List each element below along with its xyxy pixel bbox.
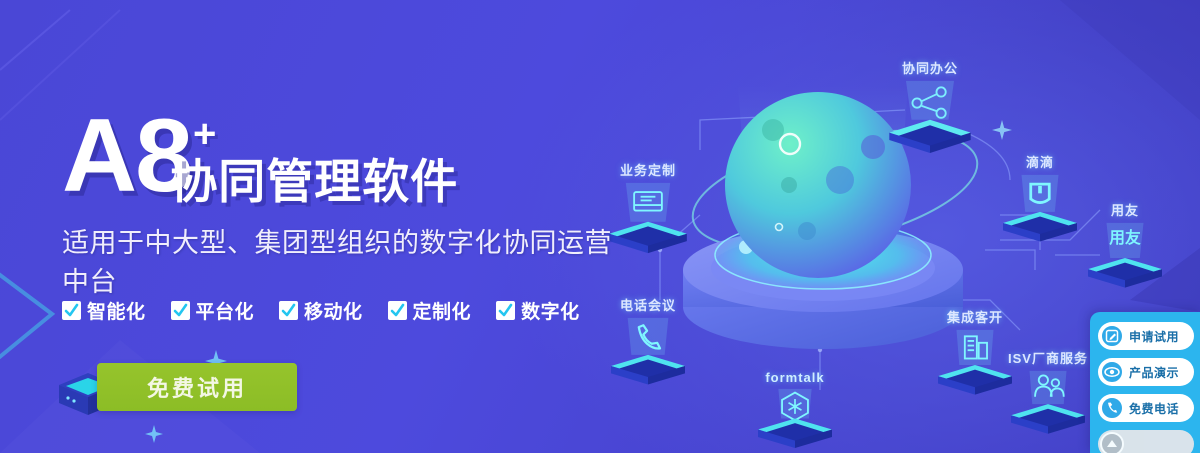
illustration-node-collab-office[interactable]: 协同办公 bbox=[870, 58, 990, 158]
checkbox-checked-icon[interactable] bbox=[171, 301, 190, 320]
hero-copy: A8 + 协同管理软件 适用于中大型、集团型组织的数字化协同运营中台 bbox=[62, 110, 622, 299]
feature-label: 数字化 bbox=[521, 297, 580, 324]
side-item-free-call[interactable]: 免费电话 bbox=[1098, 394, 1194, 422]
side-item-product-demo[interactable]: 产品演示 bbox=[1098, 358, 1194, 386]
brand-plus-superscript: + bbox=[193, 114, 216, 154]
side-item-apply-trial[interactable]: 申请试用 bbox=[1098, 322, 1194, 350]
sparkle-icon bbox=[145, 425, 163, 443]
free-trial-button[interactable]: 免费试用 bbox=[97, 363, 297, 411]
floating-contact-panel: 申请试用 产品演示 免费电话 bbox=[1090, 312, 1200, 453]
hero-subtitle: 适用于中大型、集团型组织的数字化协同运营中台 bbox=[62, 221, 622, 299]
telephone-icon bbox=[588, 316, 708, 390]
feature-label: 智能化 bbox=[87, 297, 146, 324]
feature-label: 移动化 bbox=[304, 297, 363, 324]
telephone-icon bbox=[1100, 396, 1124, 420]
feature-item[interactable]: 智能化 bbox=[62, 297, 146, 324]
hero-banner: 协同办公 业务定制 bbox=[0, 0, 1200, 453]
product-name: 协同管理软件 bbox=[170, 158, 458, 205]
side-item-label: 申请试用 bbox=[1129, 328, 1179, 345]
feature-item[interactable]: 定制化 bbox=[388, 297, 472, 324]
checkbox-checked-icon[interactable] bbox=[496, 301, 515, 320]
side-item-scroll-top[interactable] bbox=[1098, 430, 1194, 453]
checkbox-checked-icon[interactable] bbox=[62, 301, 81, 320]
chevron-decoration-icon bbox=[0, 268, 68, 364]
node-label: 协同办公 bbox=[870, 58, 990, 77]
feature-item[interactable]: 数字化 bbox=[496, 297, 580, 324]
illustration-node-phone-conference[interactable]: 电话会议 bbox=[588, 295, 708, 395]
illustration-node-formtalk[interactable]: formtalk bbox=[735, 370, 855, 453]
share-network-icon bbox=[870, 79, 990, 153]
node-label: formtalk bbox=[735, 370, 855, 385]
checkbox-checked-icon[interactable] bbox=[279, 301, 298, 320]
hexagon-snowflake-icon bbox=[735, 387, 855, 453]
yonyou-logo-icon: 用友 bbox=[1065, 221, 1185, 295]
brand-lockup: A8 + 协同管理软件 bbox=[62, 110, 622, 205]
feature-label: 平台化 bbox=[196, 297, 255, 324]
checkbox-checked-icon[interactable] bbox=[388, 301, 407, 320]
node-label: 用友 bbox=[1065, 200, 1185, 219]
feature-item[interactable]: 移动化 bbox=[279, 297, 363, 324]
svg-text:用友: 用友 bbox=[1109, 228, 1141, 247]
feature-list: 智能化 平台化 移动化 定制化 数字化 bbox=[62, 297, 580, 324]
up-arrow-icon bbox=[1100, 432, 1124, 453]
illustration-node-yonyou[interactable]: 用友 用友 bbox=[1065, 200, 1185, 300]
node-label: 滴滴 bbox=[980, 152, 1100, 171]
side-item-label: 产品演示 bbox=[1129, 364, 1179, 381]
feature-item[interactable]: 平台化 bbox=[171, 297, 255, 324]
node-label: 集成客开 bbox=[915, 307, 1035, 326]
pencil-square-icon bbox=[1100, 324, 1124, 348]
side-item-label: 免费电话 bbox=[1129, 400, 1179, 417]
feature-label: 定制化 bbox=[413, 297, 472, 324]
eye-icon bbox=[1100, 360, 1124, 384]
